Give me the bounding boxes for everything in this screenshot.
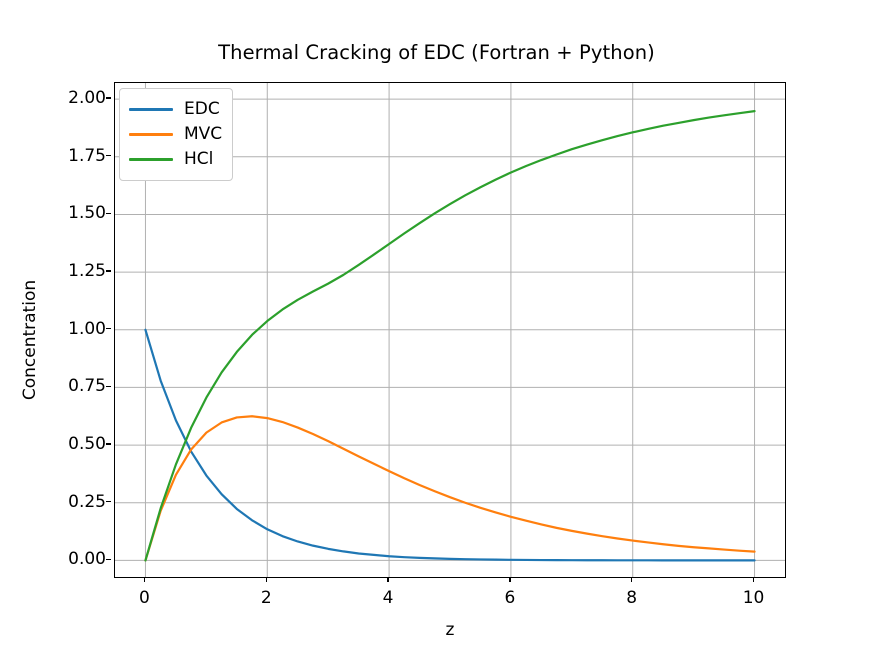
x-tick-label: 8 xyxy=(602,588,662,608)
x-axis-label: z xyxy=(114,620,786,640)
y-tick-label: 0.75 xyxy=(44,376,106,396)
y-tick-mark xyxy=(106,559,111,560)
series-line-mvc xyxy=(145,416,754,560)
legend-label: HCl xyxy=(184,151,213,168)
x-tick-label: 6 xyxy=(480,588,540,608)
x-tick-label: 4 xyxy=(358,588,418,608)
y-tick-mark xyxy=(106,155,111,156)
y-tick-label: 0.00 xyxy=(44,549,106,569)
legend-item-hcl[interactable]: HCl xyxy=(129,147,222,172)
x-tick-label: 2 xyxy=(236,588,296,608)
x-tick-label: 0 xyxy=(114,588,174,608)
legend-item-mvc[interactable]: MVC xyxy=(129,122,222,147)
y-tick-label: 1.75 xyxy=(44,146,106,166)
legend-swatch-icon xyxy=(129,133,173,136)
y-tick-mark xyxy=(106,270,111,271)
legend-swatch-icon xyxy=(129,158,173,161)
data-series xyxy=(145,111,754,560)
y-tick-mark xyxy=(106,213,111,214)
legend-swatch-icon xyxy=(129,108,173,111)
y-tick-mark xyxy=(106,443,111,444)
x-axis-tick-labels: 0246810 xyxy=(0,588,873,614)
y-axis-tick-labels: 0.000.250.500.751.001.251.501.752.00 xyxy=(38,0,106,655)
chart-figure: Thermal Cracking of EDC (Fortran + Pytho… xyxy=(0,0,873,655)
chart-legend[interactable]: EDCMVCHCl xyxy=(119,88,233,181)
x-tick-label: 10 xyxy=(724,588,784,608)
legend-label: MVC xyxy=(184,126,222,143)
y-tick-mark xyxy=(106,386,111,387)
y-tick-mark xyxy=(106,328,111,329)
y-tick-label: 1.25 xyxy=(44,261,106,281)
series-line-hcl xyxy=(145,111,754,560)
legend-label: EDC xyxy=(184,101,220,118)
legend-item-edc[interactable]: EDC xyxy=(129,97,222,122)
y-tick-label: 1.00 xyxy=(44,319,106,339)
y-tick-label: 0.50 xyxy=(44,434,106,454)
y-axis-label: Concentration xyxy=(20,240,40,440)
y-tick-label: 0.25 xyxy=(44,492,106,512)
y-tick-label: 2.00 xyxy=(44,88,106,108)
y-tick-label: 1.50 xyxy=(44,203,106,223)
chart-title: Thermal Cracking of EDC (Fortran + Pytho… xyxy=(0,41,873,64)
y-tick-mark xyxy=(106,97,111,98)
y-tick-mark xyxy=(106,501,111,502)
